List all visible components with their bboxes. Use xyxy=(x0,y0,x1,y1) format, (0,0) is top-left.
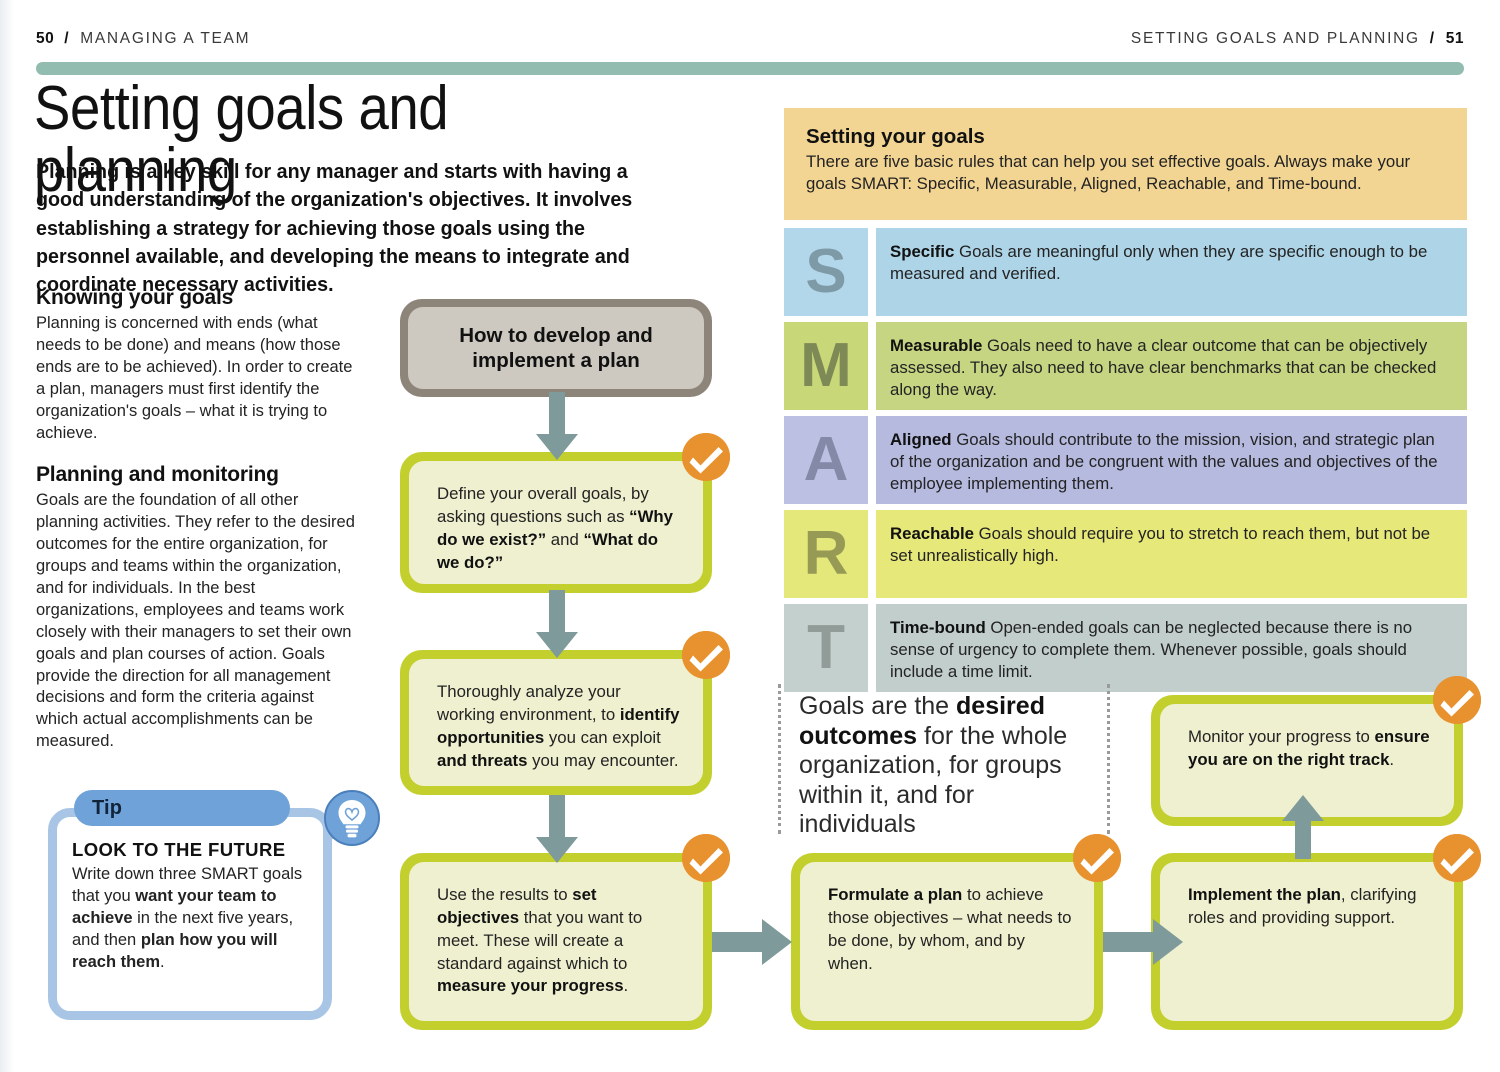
page-number-right: 51 xyxy=(1446,30,1464,47)
row-gap xyxy=(868,416,876,504)
smart-row-text: Aligned Goals should contribute to the m… xyxy=(876,416,1467,504)
smart-term: Time-bound xyxy=(890,618,986,637)
arrow-down-icon xyxy=(526,795,588,868)
slash-left: / xyxy=(64,30,70,47)
smart-term: Measurable xyxy=(890,336,982,355)
section-body: Planning is concerned with ends (what ne… xyxy=(36,313,356,445)
smart-row-text: Specific Goals are meaningful only when … xyxy=(876,228,1467,316)
standfirst-paragraph: Planning is a key skill for any manager … xyxy=(36,158,681,299)
smart-term: Specific xyxy=(890,242,954,261)
step-formulate-plan: Formulate a plan to achieve those object… xyxy=(791,853,1103,1030)
check-icon xyxy=(1433,676,1481,724)
section-planning-and-monitoring: Planning and monitoring Goals are the fo… xyxy=(36,463,356,753)
book-spread: 50/MANAGING A TEAM SETTING GOALS AND PLA… xyxy=(0,0,1500,1072)
smart-desc: Goals should contribute to the mission, … xyxy=(890,430,1438,493)
arrow-right-icon xyxy=(1103,915,1183,974)
smart-heading: Setting your goals xyxy=(806,125,1445,149)
slash-right: / xyxy=(1430,30,1436,47)
step-text: Implement the plan, clarifying roles and… xyxy=(1160,862,1454,1021)
section-knowing-your-goals: Knowing your goals Planning is concerned… xyxy=(36,286,356,445)
smart-row-specific: S Specific Goals are meaningful only whe… xyxy=(784,228,1467,316)
flowchart-title: How to develop and implement a plan xyxy=(408,307,704,389)
row-gap xyxy=(868,604,876,692)
row-gap xyxy=(868,322,876,410)
step-text: Use the results to set objectives that y… xyxy=(409,862,703,1021)
running-head-left: 50/MANAGING A TEAM xyxy=(36,30,250,48)
smart-row-text: Measurable Goals need to have a clear ou… xyxy=(876,322,1467,410)
page-number-left: 50 xyxy=(36,30,54,47)
smart-desc: Goals are meaningful only when they are … xyxy=(890,242,1427,283)
row-gap xyxy=(868,228,876,316)
check-icon xyxy=(1073,834,1121,882)
smart-term: Aligned xyxy=(890,430,952,449)
running-head-right: SETTING GOALS AND PLANNING/51 xyxy=(1131,30,1464,48)
smart-term: Reachable xyxy=(890,524,974,543)
smart-row-text: Time-bound Open-ended goals can be negle… xyxy=(876,604,1467,692)
smart-row-text: Reachable Goals should require you to st… xyxy=(876,510,1467,598)
arrow-down-icon xyxy=(526,392,588,465)
section-body: Goals are the foundation of all other pl… xyxy=(36,490,356,753)
tip-title: LOOK TO THE FUTURE xyxy=(72,839,285,860)
step-text: Define your overall goals, by asking que… xyxy=(409,461,703,584)
lightbulb-icon xyxy=(324,790,380,846)
smart-row-time-bound: T Time-bound Open-ended goals can be neg… xyxy=(784,604,1467,692)
smart-letter: S xyxy=(784,228,868,316)
smart-row-measurable: M Measurable Goals need to have a clear … xyxy=(784,322,1467,410)
check-icon xyxy=(682,834,730,882)
arrow-up-icon xyxy=(1272,795,1334,864)
step-define-goals: Define your overall goals, by asking que… xyxy=(400,452,712,593)
step-implement-plan: Implement the plan, clarifying roles and… xyxy=(1151,853,1463,1030)
flowchart-title-box: How to develop and implement a plan xyxy=(400,299,712,397)
step-text: Formulate a plan to achieve those object… xyxy=(800,862,1094,1021)
smart-letter: T xyxy=(784,604,868,692)
arrow-down-icon xyxy=(526,590,588,663)
section-label-right: SETTING GOALS AND PLANNING xyxy=(1131,30,1420,47)
smart-letter: R xyxy=(784,510,868,598)
section-heading: Knowing your goals xyxy=(36,286,356,310)
tip-callout: Tip LOOK TO THE FUTURE Write down three … xyxy=(26,790,362,1040)
tip-body: Write down three SMART goals that you wa… xyxy=(72,865,302,971)
check-icon xyxy=(682,631,730,679)
smart-intro-text: There are five basic rules that can help… xyxy=(806,151,1445,194)
tip-tab: Tip xyxy=(74,790,290,826)
pull-quote: Goals are the desired outcomes for the w… xyxy=(778,684,1110,834)
check-icon xyxy=(1433,834,1481,882)
arrow-right-icon xyxy=(712,915,792,974)
step-text: Thoroughly analyze your working environm… xyxy=(409,659,703,786)
step-analyze-environment: Thoroughly analyze your working environm… xyxy=(400,650,712,795)
smart-intro-panel: Setting your goals There are five basic … xyxy=(784,108,1467,220)
row-gap xyxy=(868,510,876,598)
section-label-left: MANAGING A TEAM xyxy=(80,30,250,47)
check-icon xyxy=(682,433,730,481)
step-set-objectives: Use the results to set objectives that y… xyxy=(400,853,712,1030)
section-heading: Planning and monitoring xyxy=(36,463,356,487)
tip-text: LOOK TO THE FUTURE Write down three SMAR… xyxy=(72,838,312,973)
smart-letter: M xyxy=(784,322,868,410)
smart-row-aligned: A Aligned Goals should contribute to the… xyxy=(784,416,1467,504)
smart-letter: A xyxy=(784,416,868,504)
smart-row-reachable: R Reachable Goals should require you to … xyxy=(784,510,1467,598)
